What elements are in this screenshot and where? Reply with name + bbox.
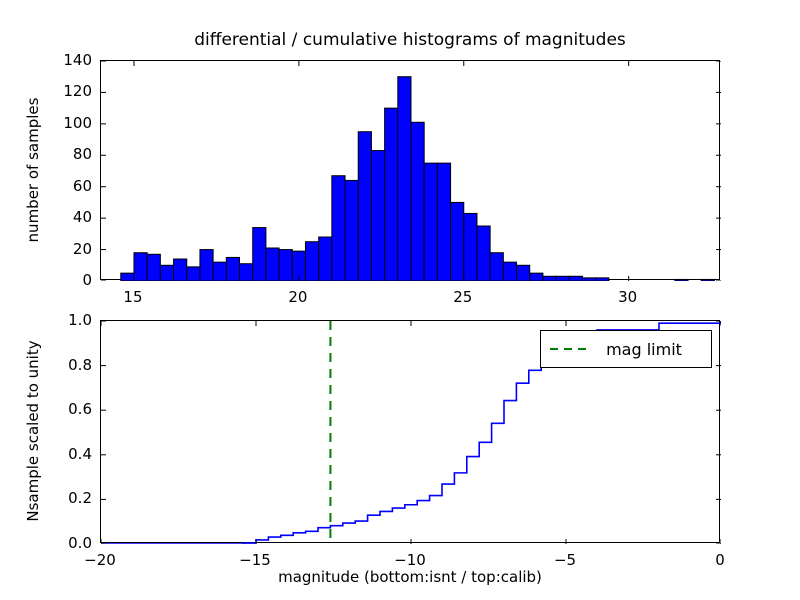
histogram-bar [200,250,213,281]
top-ytick-100: 100 [48,114,92,132]
histogram-bar [213,262,226,281]
histogram-bar [319,237,332,281]
histogram-bar [569,276,582,281]
histogram-bar [424,163,437,281]
histogram-bar [266,248,279,281]
top-ytick-20: 20 [48,240,92,258]
histogram-bar [451,202,464,281]
histogram-bar [556,276,569,281]
histogram-bar [332,176,345,281]
top-ytick-0: 0 [48,271,92,289]
histogram-bar [437,163,450,281]
histogram-bar [503,262,516,281]
bottom-ytick-0: 0.0 [48,534,92,552]
histogram-bar [345,180,358,281]
histogram-bar [121,273,134,281]
histogram-bar [134,253,147,281]
top-ytick-80: 80 [48,145,92,163]
histogram-bar [358,132,371,281]
histogram-bar [596,278,609,281]
figure-canvas: differential / cumulative histograms of … [0,0,800,600]
histogram-bar [371,151,384,281]
legend-label-mag-limit: mag limit [589,340,703,359]
histogram-bar [490,253,503,281]
histogram-bar [701,279,714,281]
bottom-xtick--10: −10 [394,551,426,569]
bottom-ytick-0.6: 0.6 [48,400,92,418]
histogram-bar [530,273,543,281]
histogram-bar [187,267,200,281]
chart-title: differential / cumulative histograms of … [100,30,720,50]
bottom-xtick--15: −15 [239,551,271,569]
histogram-bar [226,257,239,281]
histogram-bar [675,279,688,281]
top-ytick-40: 40 [48,208,92,226]
histogram-bar [398,77,411,281]
histogram-bar [385,108,398,281]
shared-xlabel: magnitude (bottom:isnt / top:calib) [100,568,720,586]
histogram-bar [174,259,187,281]
top-ytick-120: 120 [48,82,92,100]
differential-histogram-svg [101,61,721,281]
histogram-bar [411,122,424,281]
histogram-bar [582,278,595,281]
histogram-bar [477,226,490,281]
histogram-bar [147,254,160,281]
top-xtick-15: 15 [123,288,142,306]
mag-limit-legend-line-icon [549,343,589,355]
top-xtick-30: 30 [618,288,637,306]
legend: mag limit [540,330,712,368]
histogram-bar [543,276,556,281]
differential-histogram-plot [100,60,720,280]
top-ytick-140: 140 [48,51,92,69]
bottom-axis-ylabel: Nsample scaled to unity [24,340,42,521]
top-xtick-25: 25 [453,288,472,306]
bottom-xtick-0: 0 [715,551,725,569]
histogram-bar [240,264,253,281]
histogram-bar [160,265,173,281]
bottom-xtick--20: −20 [84,551,116,569]
histogram-bar [253,228,266,281]
top-axis-ylabel: number of samples [24,98,42,243]
top-ytick-60: 60 [48,177,92,195]
histogram-bar [279,250,292,281]
bottom-xtick--5: −5 [554,551,576,569]
bottom-ytick-1: 1.0 [48,311,92,329]
histogram-bar [305,242,318,281]
bottom-ytick-0.4: 0.4 [48,445,92,463]
histogram-bar [464,213,477,281]
bottom-ytick-0.8: 0.8 [48,356,92,374]
top-xtick-20: 20 [288,288,307,306]
histogram-bar [517,265,530,281]
bottom-ytick-0.2: 0.2 [48,489,92,507]
